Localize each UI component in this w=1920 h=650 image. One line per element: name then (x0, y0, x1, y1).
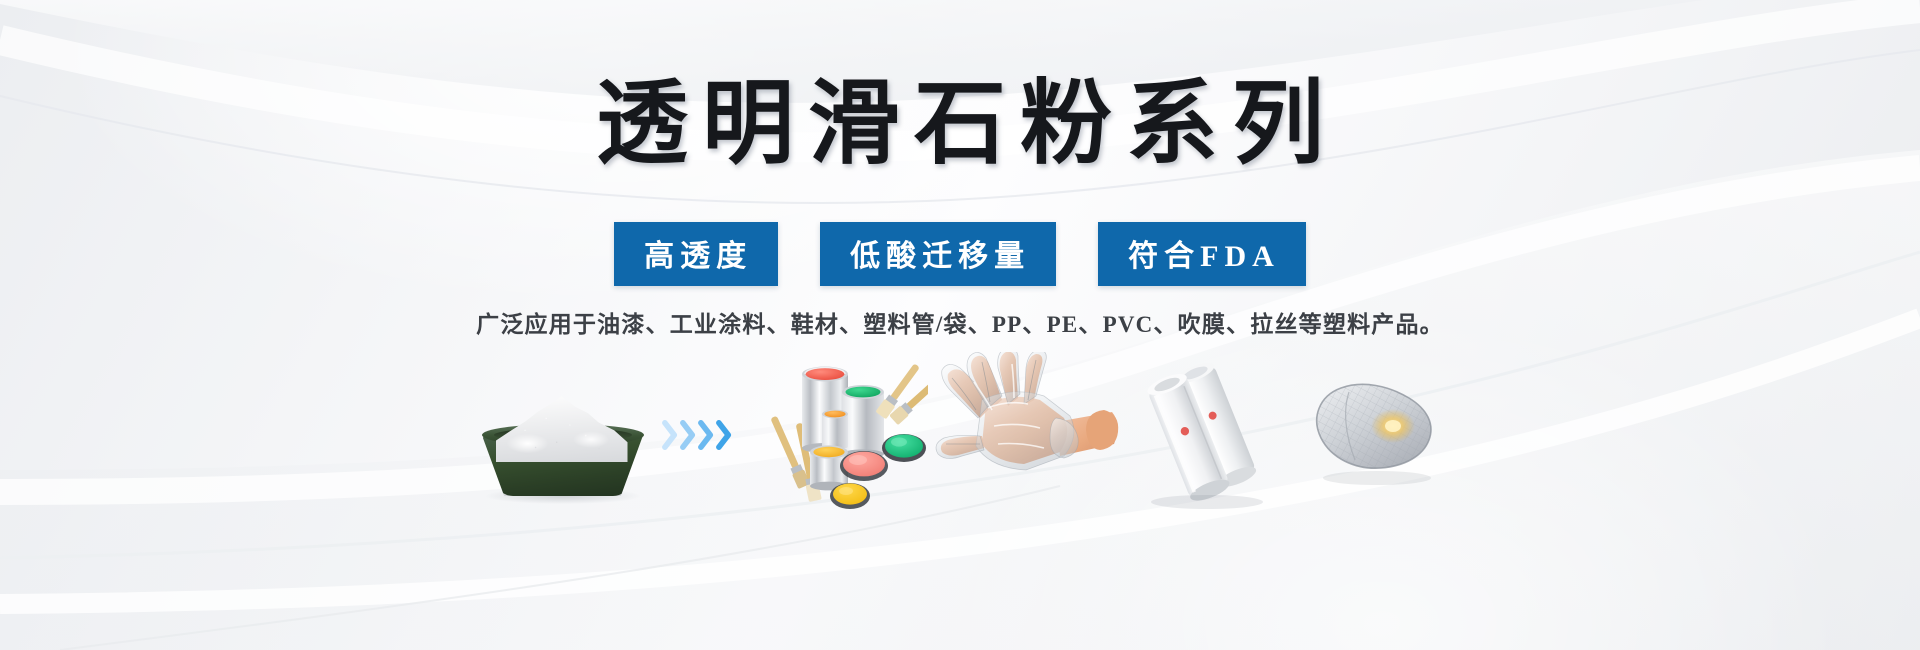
rolls-shadow (1151, 495, 1263, 509)
product-banner: 透明滑石粉系列 高透度 低酸迁移量 符合FDA 广泛应用于油漆、工业涂料、鞋材、… (0, 0, 1920, 650)
chevron-right-icon (698, 420, 715, 450)
talc-powder-heap (496, 396, 628, 462)
paint-dish-green (882, 434, 926, 462)
headline-wrap: 透明滑石粉系列 (0, 78, 1920, 170)
film-rolls-illustration (1123, 352, 1293, 512)
plastic-film-overlay (936, 352, 1078, 470)
chevron-right-icon (680, 420, 697, 450)
insole-shadow (1323, 471, 1431, 485)
application-description: 广泛应用于油漆、工业涂料、鞋材、塑料管/袋、PP、PE、PVC、吹膜、拉丝等塑料… (476, 312, 1444, 337)
feature-badge-low-acid-migration[interactable]: 低酸迁移量 (820, 222, 1056, 286)
paint-can-green (842, 385, 884, 459)
feature-badge-high-transparency[interactable]: 高透度 (614, 222, 778, 286)
paint-dish-yellow (830, 483, 870, 509)
page-title: 透明滑石粉系列 (582, 78, 1338, 170)
chevron-right-icon (662, 420, 679, 450)
chevron-right-icon (716, 420, 733, 450)
product-image-strip (0, 352, 1920, 512)
paint-can-orange (822, 410, 848, 448)
insole-illustration (1293, 352, 1453, 512)
product-shoe-insole (1293, 352, 1453, 512)
product-plastic-glove-hand (928, 352, 1123, 512)
paint-cans-illustration (768, 352, 928, 512)
feature-badge-fda-compliant[interactable]: 符合FDA (1098, 222, 1306, 286)
glove-hand-illustration (928, 352, 1123, 512)
process-arrows (658, 352, 768, 512)
product-plastic-film-rolls (1123, 352, 1293, 512)
paint-dish-pink (840, 451, 888, 481)
insole-body (1316, 384, 1430, 468)
product-talc-powder-bowl (468, 352, 658, 512)
product-paint-cans (768, 352, 928, 512)
feature-badge-list: 高透度 低酸迁移量 符合FDA (0, 222, 1920, 286)
subtitle-wrap: 广泛应用于油漆、工业涂料、鞋材、塑料管/袋、PP、PE、PVC、吹膜、拉丝等塑料… (0, 305, 1920, 339)
